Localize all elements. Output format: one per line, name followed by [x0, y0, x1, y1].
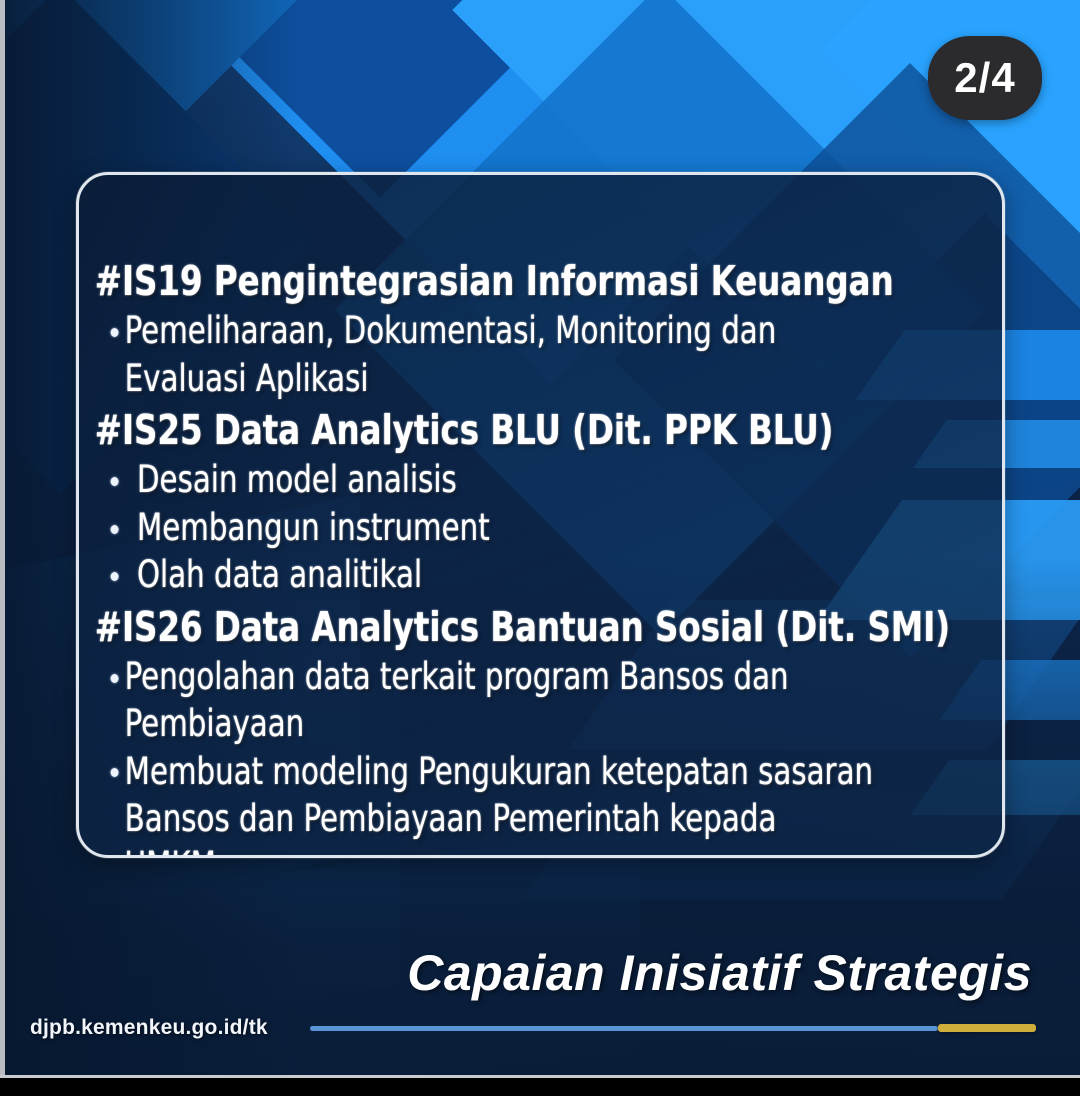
initiative-bullet-list: Desain model analisis Membangun instrume… — [93, 456, 992, 598]
list-item: Pengolahan data terkait program Bansos d… — [93, 653, 884, 748]
footer-rule-blue — [310, 1026, 938, 1031]
bullet-dot-icon — [111, 525, 119, 534]
bullet-dot-icon — [111, 328, 119, 337]
footer-rule-gold — [938, 1024, 1036, 1032]
slide-canvas: 2/4 #IS19 Pengintegrasian Informasi Keua… — [0, 0, 1080, 1096]
content-card: #IS19 Pengintegrasian Informasi Keuangan… — [76, 172, 1005, 858]
list-item-label: Pemeliharaan, Dokumentasi, Monitoring da… — [125, 309, 777, 399]
page-counter-badge: 2/4 — [928, 36, 1042, 120]
list-item: Olah data analitikal — [93, 551, 884, 598]
page-counter-label: 2/4 — [954, 54, 1015, 102]
initiative-group: #IS26 Data Analytics Bantuan Sosial (Dit… — [93, 603, 992, 858]
bullet-dot-icon — [111, 768, 119, 777]
list-item-label: Membuat modeling Pengukuran ketepatan sa… — [125, 750, 873, 858]
footer-url: djpb.kemenkeu.go.id/tk — [30, 1016, 268, 1040]
footer: Capaian Inisiatif Strategis djpb.kemenke… — [0, 944, 1080, 1074]
list-item: Membangun instrument — [93, 504, 884, 551]
initiative-heading: #IS25 Data Analytics BLU (Dit. PPK BLU) — [93, 406, 884, 454]
screenshot-left-edge — [0, 0, 5, 1078]
bullet-dot-icon — [111, 572, 119, 581]
list-item: Desain model analisis — [93, 456, 884, 503]
list-item-label: Olah data analitikal — [137, 553, 422, 596]
list-item: Membuat modeling Pengukuran ketepatan sa… — [93, 748, 884, 858]
initiative-heading: #IS19 Pengintegrasian Informasi Keuangan — [93, 257, 884, 305]
bullet-dot-icon — [111, 674, 119, 683]
initiative-group: #IS25 Data Analytics BLU (Dit. PPK BLU) … — [93, 406, 992, 598]
list-item: Pemeliharaan, Dokumentasi, Monitoring da… — [93, 307, 884, 402]
list-item-label: Membangun instrument — [137, 506, 490, 549]
screenshot-bottom-bar — [0, 1078, 1080, 1096]
initiative-bullet-list: Pengolahan data terkait program Bansos d… — [93, 653, 992, 858]
content-card-body: #IS19 Pengintegrasian Informasi Keuangan… — [93, 257, 992, 858]
list-item-label: Desain model analisis — [137, 458, 457, 501]
initiative-group: #IS19 Pengintegrasian Informasi Keuangan… — [93, 257, 992, 402]
initiative-bullet-list: Pemeliharaan, Dokumentasi, Monitoring da… — [93, 307, 992, 402]
list-item-label: Pengolahan data terkait program Bansos d… — [125, 655, 789, 745]
initiative-heading: #IS26 Data Analytics Bantuan Sosial (Dit… — [93, 603, 884, 651]
bullet-dot-icon — [111, 477, 119, 486]
footer-title: Capaian Inisiatif Strategis — [407, 944, 1032, 1002]
